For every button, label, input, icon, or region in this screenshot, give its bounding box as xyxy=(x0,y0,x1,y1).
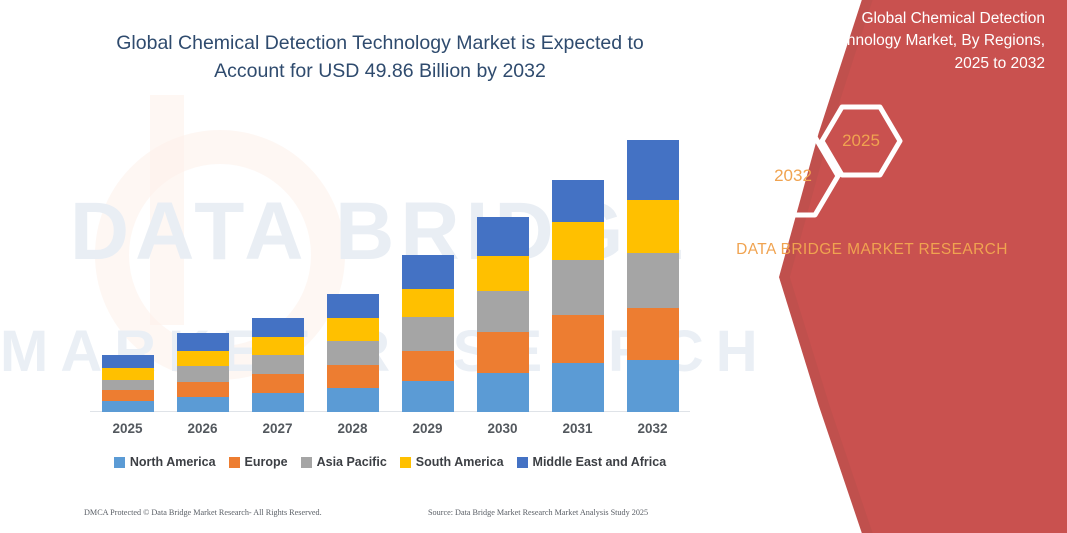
segment-middle-east-and-africa[interactable] xyxy=(177,333,229,351)
legend-item-middle-east-and-africa[interactable]: Middle East and Africa xyxy=(517,455,667,469)
chart-title: Global Chemical Detection Technology Mar… xyxy=(90,30,670,85)
legend-label: Middle East and Africa xyxy=(533,455,667,469)
segment-asia-pacific[interactable] xyxy=(327,341,379,365)
segment-europe[interactable] xyxy=(627,308,679,360)
x-label-2031: 2031 xyxy=(548,421,608,436)
legend-swatch-icon xyxy=(400,457,411,468)
bar-2031[interactable] xyxy=(552,180,604,412)
hexagon-badge-start-year: 2025 xyxy=(819,104,903,178)
segment-north-america[interactable] xyxy=(552,363,604,412)
legend-label: Asia Pacific xyxy=(317,455,387,469)
segment-europe[interactable] xyxy=(327,365,379,388)
x-axis-labels: 20252026202720282029203020312032 xyxy=(90,421,690,443)
bar-2026[interactable] xyxy=(177,333,229,412)
segment-europe[interactable] xyxy=(477,332,529,373)
segment-south-america[interactable] xyxy=(102,368,154,380)
bar-2028[interactable] xyxy=(327,294,379,412)
chart-legend: North AmericaEuropeAsia PacificSouth Ame… xyxy=(90,455,690,469)
legend-swatch-icon xyxy=(114,457,125,468)
segment-europe[interactable] xyxy=(177,382,229,397)
segment-north-america[interactable] xyxy=(252,393,304,412)
chart-panel: DATA BRIDGE MARKET RESEARCH Global Chemi… xyxy=(0,0,760,533)
x-label-2032: 2032 xyxy=(623,421,683,436)
legend-swatch-icon xyxy=(517,457,528,468)
bar-2032[interactable] xyxy=(627,140,679,412)
segment-middle-east-and-africa[interactable] xyxy=(627,140,679,200)
segment-south-america[interactable] xyxy=(402,289,454,317)
bar-2029[interactable] xyxy=(402,255,454,412)
hexagon-badges: 2032 2025 xyxy=(707,104,1067,214)
legend-item-north-america[interactable]: North America xyxy=(114,455,216,469)
segment-asia-pacific[interactable] xyxy=(477,291,529,332)
segment-north-america[interactable] xyxy=(477,373,529,412)
segment-europe[interactable] xyxy=(402,351,454,382)
bar-2027[interactable] xyxy=(252,318,304,412)
legend-swatch-icon xyxy=(229,457,240,468)
segment-europe[interactable] xyxy=(102,390,154,401)
segment-asia-pacific[interactable] xyxy=(627,253,679,309)
legend-item-asia-pacific[interactable]: Asia Pacific xyxy=(301,455,387,469)
bar-2030[interactable] xyxy=(477,217,529,412)
segment-south-america[interactable] xyxy=(177,351,229,366)
segment-middle-east-and-africa[interactable] xyxy=(102,355,154,368)
x-label-2030: 2030 xyxy=(473,421,533,436)
segment-south-america[interactable] xyxy=(327,318,379,341)
x-label-2028: 2028 xyxy=(323,421,383,436)
x-label-2027: 2027 xyxy=(248,421,308,436)
segment-europe[interactable] xyxy=(252,374,304,393)
legend-label: Europe xyxy=(245,455,288,469)
segment-south-america[interactable] xyxy=(552,222,604,260)
brand-panel: Global Chemical Detection Technology Mar… xyxy=(707,0,1067,533)
legend-item-south-america[interactable]: South America xyxy=(400,455,504,469)
source-note: Source: Data Bridge Market Research Mark… xyxy=(428,508,648,517)
brand-panel-background-inner xyxy=(707,0,1067,533)
segment-north-america[interactable] xyxy=(402,381,454,412)
x-label-2029: 2029 xyxy=(398,421,458,436)
segment-asia-pacific[interactable] xyxy=(552,260,604,315)
segment-middle-east-and-africa[interactable] xyxy=(552,180,604,222)
x-label-2025: 2025 xyxy=(98,421,158,436)
segment-middle-east-and-africa[interactable] xyxy=(327,294,379,318)
hexagon-start-year-label: 2025 xyxy=(842,131,880,151)
legend-swatch-icon xyxy=(301,457,312,468)
segment-asia-pacific[interactable] xyxy=(177,366,229,382)
segment-south-america[interactable] xyxy=(252,337,304,356)
brand-panel-title: Global Chemical Detection Technology Mar… xyxy=(789,8,1045,75)
segment-middle-east-and-africa[interactable] xyxy=(402,255,454,288)
segment-south-america[interactable] xyxy=(477,256,529,291)
segment-asia-pacific[interactable] xyxy=(252,355,304,374)
dmca-notice: DMCA Protected © Data Bridge Market Rese… xyxy=(84,508,322,517)
legend-label: North America xyxy=(130,455,216,469)
segment-europe[interactable] xyxy=(552,315,604,364)
segment-asia-pacific[interactable] xyxy=(102,380,154,391)
legend-label: South America xyxy=(416,455,504,469)
legend-item-europe[interactable]: Europe xyxy=(229,455,288,469)
segment-middle-east-and-africa[interactable] xyxy=(252,318,304,337)
hexagon-end-year-label: 2032 xyxy=(774,166,812,186)
brand-name: DATA BRIDGE MARKET RESEARCH xyxy=(707,238,1067,261)
segment-north-america[interactable] xyxy=(177,397,229,412)
segment-middle-east-and-africa[interactable] xyxy=(477,217,529,255)
footer: DMCA Protected © Data Bridge Market Rese… xyxy=(0,508,760,530)
segment-north-america[interactable] xyxy=(327,388,379,412)
x-label-2026: 2026 xyxy=(173,421,233,436)
segment-north-america[interactable] xyxy=(627,360,679,412)
stacked-bar-chart xyxy=(90,110,690,412)
segment-asia-pacific[interactable] xyxy=(402,317,454,351)
segment-north-america[interactable] xyxy=(102,401,154,412)
segment-south-america[interactable] xyxy=(627,200,679,253)
bar-2025[interactable] xyxy=(102,355,154,412)
